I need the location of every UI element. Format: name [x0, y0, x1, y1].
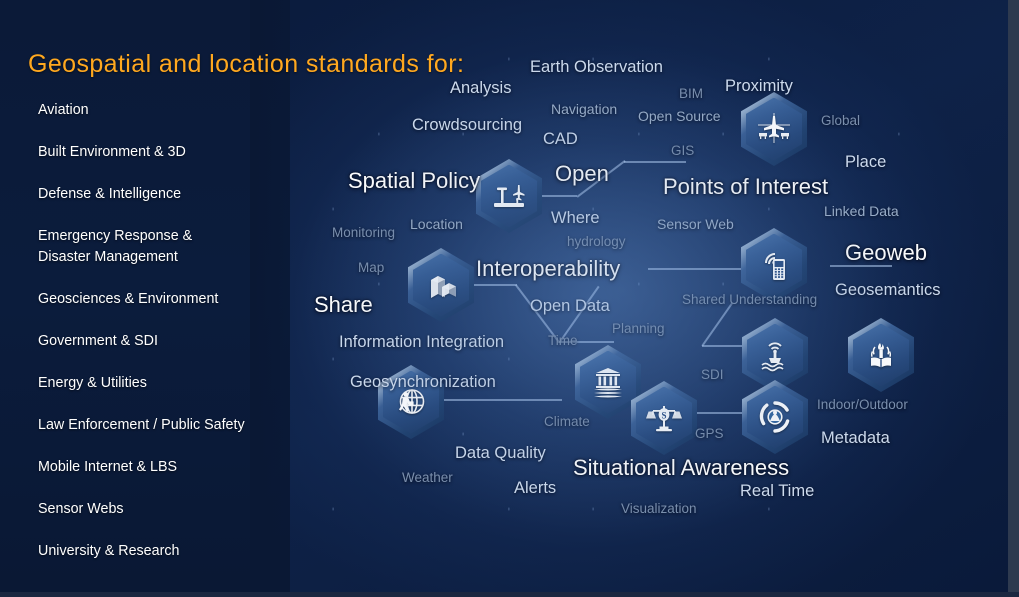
list-item[interactable]: Emergency Response & — [38, 226, 288, 247]
word-planning: Planning — [612, 321, 665, 336]
word-earth-observation: Earth Observation — [530, 58, 663, 77]
word-alerts: Alerts — [514, 479, 556, 498]
word-where: Where — [551, 209, 600, 228]
hex-badge-justice-scales[interactable]: S — [631, 381, 697, 455]
word-map: Map — [358, 260, 384, 275]
bottom-edge-strip — [0, 592, 1019, 597]
mobile-phone-signal-icon — [741, 228, 807, 302]
justice-scales-icon: S — [631, 381, 697, 455]
list-item[interactable]: Aviation — [38, 100, 288, 121]
word-sdi: SDI — [701, 367, 724, 382]
list-item[interactable]: Sensor Webs — [38, 499, 288, 520]
emergency-response-icon — [742, 380, 808, 454]
word-gps: GPS — [695, 426, 724, 441]
right-edge-strip — [1008, 0, 1019, 597]
word-metadata: Metadata — [821, 429, 890, 448]
word-analysis: Analysis — [450, 79, 511, 98]
word-visualization: Visualization — [621, 501, 697, 516]
word-gis: GIS — [671, 143, 694, 158]
word-open: Open — [555, 161, 609, 187]
word-cad: CAD — [543, 130, 578, 149]
word-geoweb: Geoweb — [845, 240, 927, 266]
list-item[interactable]: Built Environment & 3D — [38, 142, 288, 163]
hex-badge-emergency-response[interactable] — [742, 380, 808, 454]
hex-badge-torch-book[interactable] — [848, 318, 914, 392]
hex-network-graphic: S — [290, 0, 1008, 592]
word-open-source: Open Source — [638, 108, 721, 124]
list-item[interactable]: Government & SDI — [38, 331, 288, 352]
word-interoperability: Interoperability — [476, 256, 620, 282]
word-bim: BIM — [679, 86, 703, 101]
word-share: Share — [314, 292, 373, 318]
word-geosynchronization: Geosynchronization — [350, 373, 496, 392]
aviation-airport-icon — [476, 159, 542, 233]
word-open-data: Open Data — [530, 297, 610, 316]
word-shared-understanding: Shared Understanding — [682, 292, 817, 307]
domain-list: Aviation Built Environment & 3D Defense … — [38, 100, 288, 583]
word-situational-awareness: Situational Awareness — [573, 455, 789, 481]
connector-line — [430, 399, 562, 401]
list-item[interactable]: University & Research — [38, 541, 288, 562]
list-item[interactable]: Geosciences & Environment — [38, 289, 288, 310]
word-climate: Climate — [544, 414, 590, 429]
list-item[interactable]: Mobile Internet & LBS — [38, 457, 288, 478]
word-global: Global — [821, 113, 860, 128]
word-spatial-policy: Spatial Policy — [348, 168, 480, 194]
word-real-time: Real Time — [740, 482, 814, 501]
list-item[interactable]: Defense & Intelligence — [38, 184, 288, 205]
hex-badge-3d-buildings[interactable] — [408, 248, 474, 322]
hex-badge-aircraft[interactable] — [741, 92, 807, 166]
word-place: Place — [845, 153, 886, 172]
word-hydrology: hydrology — [567, 234, 626, 249]
word-information-integration: Information Integration — [339, 333, 504, 352]
hex-badge-aviation-airport[interactable] — [476, 159, 542, 233]
word-monitoring: Monitoring — [332, 225, 395, 240]
word-indoor-outdoor: Indoor/Outdoor — [817, 397, 908, 412]
aircraft-icon — [741, 92, 807, 166]
list-item[interactable]: Energy & Utilities — [38, 373, 288, 394]
word-points-of-interest: Points of Interest — [663, 174, 828, 200]
list-item[interactable]: Law Enforcement / Public Safety — [38, 415, 288, 436]
word-proximity: Proximity — [725, 77, 793, 96]
word-sensor-web: Sensor Web — [657, 216, 734, 232]
3d-buildings-icon — [408, 248, 474, 322]
connector-line — [624, 161, 686, 163]
page-title: Geospatial and location standards for: — [28, 50, 464, 79]
slide-canvas: S — [0, 0, 1019, 597]
hex-badge-mobile-phone[interactable] — [741, 228, 807, 302]
word-data-quality: Data Quality — [455, 444, 546, 463]
list-item[interactable]: Disaster Management — [38, 247, 288, 268]
svg-text:S: S — [661, 410, 666, 420]
word-location: Location — [410, 216, 463, 232]
word-linked-data: Linked Data — [824, 203, 899, 219]
torch-book-icon — [848, 318, 914, 392]
word-crowdsourcing: Crowdsourcing — [412, 116, 522, 135]
word-geosemantics: Geosemantics — [835, 281, 940, 300]
word-navigation: Navigation — [551, 101, 617, 117]
word-time: Time — [548, 333, 578, 348]
word-weather: Weather — [402, 470, 453, 485]
